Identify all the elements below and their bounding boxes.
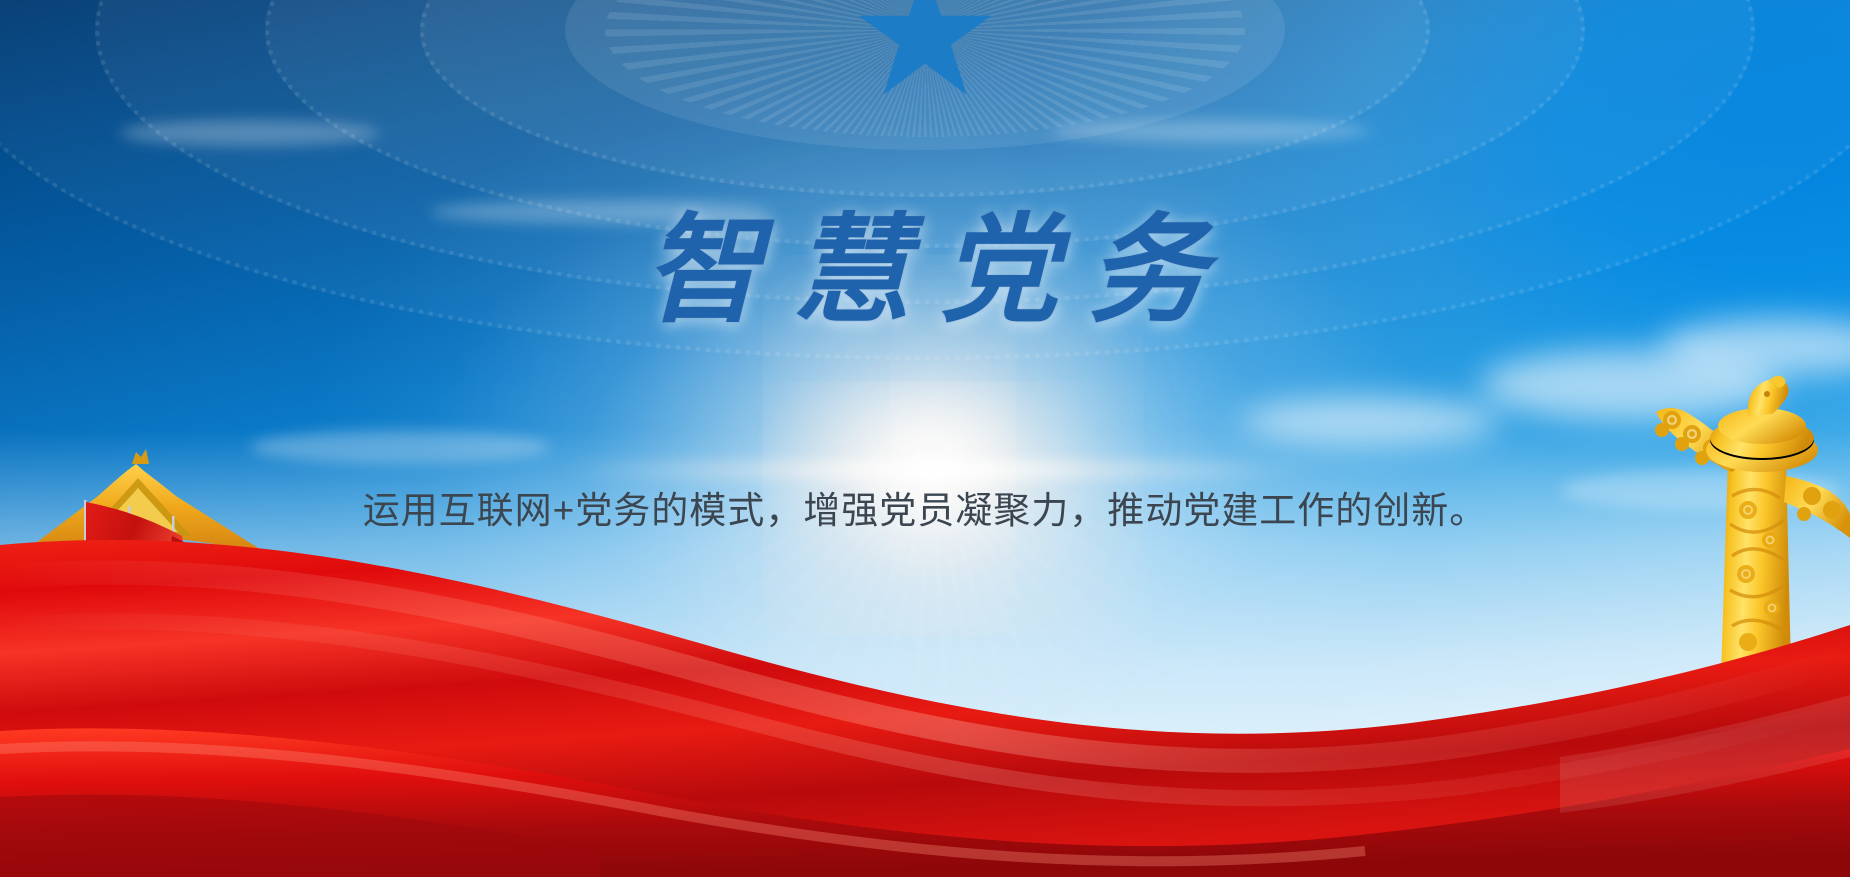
banner-hero: 中华人民共和国万岁 世界人民大团结 [0,0,1850,877]
cloud [120,120,380,146]
page-title: 智慧党务 [0,200,1850,339]
cloud [1050,120,1370,142]
cloud [1240,398,1500,446]
page-subtitle: 运用互联网+党务的模式，增强党员凝聚力，推动党建工作的创新。 [0,480,1850,534]
